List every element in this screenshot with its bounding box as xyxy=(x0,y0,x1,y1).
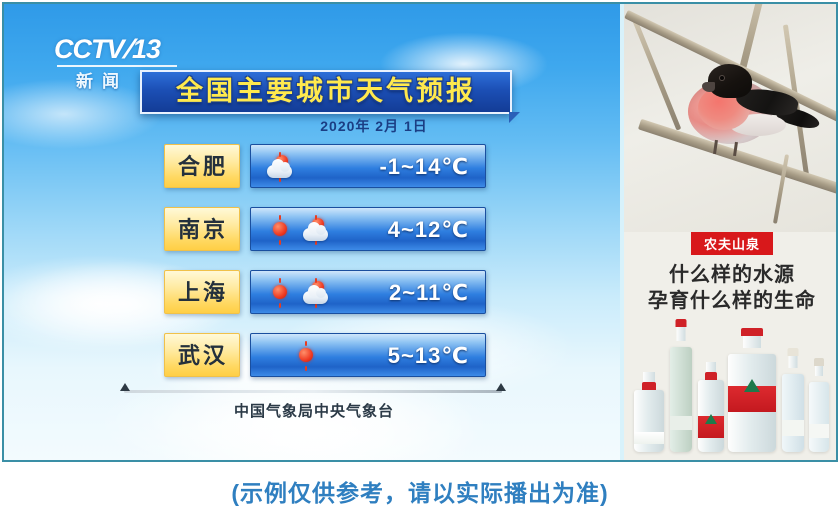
forecast-row: 武汉 5~13℃ xyxy=(164,333,486,377)
sun-icon xyxy=(265,215,295,245)
forecast-date: 2020年 2月 1日 xyxy=(240,116,508,136)
bottle-cap-shape xyxy=(741,328,763,336)
mountain-logo-icon xyxy=(705,414,717,424)
bird-leg-shape xyxy=(733,142,738,156)
product-bottle xyxy=(698,380,724,452)
footer-divider xyxy=(124,390,502,393)
product-bottle-large xyxy=(728,354,776,452)
bottle-label-shape xyxy=(782,420,804,436)
forecast-row: 上海 2~11℃ xyxy=(164,270,486,314)
temperature-box: 2~11℃ xyxy=(250,270,486,314)
temperature-box: 5~13℃ xyxy=(250,333,486,377)
sun-behind-cloud-icon xyxy=(301,278,331,308)
screenshot-root: CCTV/13 新闻 全国主要城市天气预报 2020年 2月 1日 合肥 xyxy=(0,0,840,517)
temperature-range: 4~12℃ xyxy=(388,208,469,252)
ad-slogan: 什么样的水源 孕育什么样的生命 xyxy=(624,262,838,314)
product-bottle xyxy=(634,390,664,452)
footer-left-triangle-icon xyxy=(120,383,130,391)
weather-icon-group xyxy=(265,212,331,248)
sun-behind-cloud-icon xyxy=(265,152,295,182)
city-name: 上海 xyxy=(165,271,241,315)
bird-beak-shape xyxy=(702,82,715,92)
city-label-box: 合肥 xyxy=(164,144,240,188)
city-name: 武汉 xyxy=(165,334,241,378)
bottle-neck-shape xyxy=(677,325,686,341)
forecast-title-banner: 全国主要城市天气预报 xyxy=(140,70,512,114)
bottle-neck-shape xyxy=(789,354,798,368)
city-name: 合肥 xyxy=(165,145,241,189)
product-bottle xyxy=(670,347,692,452)
tv-broadcast-frame: CCTV/13 新闻 全国主要城市天气预报 2020年 2月 1日 合肥 xyxy=(2,2,838,462)
sun-icon xyxy=(265,278,295,308)
bottle-cap-shape xyxy=(642,382,656,390)
city-label-box: 武汉 xyxy=(164,333,240,377)
mountain-logo-icon xyxy=(744,379,760,392)
temperature-range: -1~14℃ xyxy=(379,145,469,189)
product-lineup-photo xyxy=(624,325,838,460)
cloud-shape xyxy=(267,165,292,178)
bullfinch-bird xyxy=(680,56,816,164)
bottle-cap-shape xyxy=(788,348,799,356)
bottle-neck-shape xyxy=(743,334,761,348)
cloud-shape xyxy=(303,228,328,241)
product-bottle xyxy=(782,374,804,452)
brand-name: 农夫山泉 xyxy=(704,234,760,253)
bird-leg-shape xyxy=(713,140,718,154)
temperature-box: -1~14℃ xyxy=(250,144,486,188)
temperature-range: 5~13℃ xyxy=(388,334,469,378)
brand-logo-badge: 农夫山泉 xyxy=(691,232,773,255)
forecast-source: 中国气象局中央气象台 xyxy=(164,400,464,421)
sun-behind-cloud-icon xyxy=(301,215,331,245)
weather-icon-group xyxy=(291,338,321,374)
bottle-label-shape xyxy=(809,424,829,438)
forecast-row: 南京 4~12℃ xyxy=(164,207,486,251)
disclaimer-caption: (示例仅供参考，请以实际播出为准) xyxy=(0,474,840,508)
bottle-cap-shape xyxy=(814,358,824,366)
sun-icon xyxy=(291,341,321,371)
cctv-wordmark: CCTV/13 xyxy=(54,36,194,63)
bottle-label-shape xyxy=(670,416,692,430)
city-label-box: 上海 xyxy=(164,270,240,314)
cctv-letters: CCTV xyxy=(54,34,124,64)
bird-head-shape xyxy=(708,64,752,98)
bird-eye-shape xyxy=(720,76,724,80)
temperature-range: 2~11℃ xyxy=(389,271,469,315)
ad-slogan-line-2: 孕育什么样的生命 xyxy=(624,288,838,314)
footer-right-triangle-icon xyxy=(496,383,506,391)
ad-slogan-line-1: 什么样的水源 xyxy=(624,262,838,288)
sun-rays-shape xyxy=(279,215,281,245)
city-name: 南京 xyxy=(165,208,241,252)
weather-icon-group xyxy=(265,149,295,185)
bottle-cap-shape xyxy=(676,319,687,327)
cctv-subtitle: 新闻 xyxy=(76,67,128,92)
temperature-box: 4~12℃ xyxy=(250,207,486,251)
bottle-cap-shape xyxy=(705,372,717,380)
advertisement-panel[interactable]: 农夫山泉 什么样的水源 孕育什么样的生命 xyxy=(624,4,838,460)
forecast-row: 合肥 -1~14℃ xyxy=(164,144,486,188)
sun-rays-shape xyxy=(305,341,307,371)
cloud-shape xyxy=(303,291,328,304)
cctv-channel-number: 13 xyxy=(132,34,160,64)
bottle-label-shape xyxy=(634,432,664,444)
sun-rays-shape xyxy=(279,278,281,308)
product-bottle xyxy=(809,382,829,452)
page-title: 全国主要城市天气预报 xyxy=(142,72,510,112)
city-label-box: 南京 xyxy=(164,207,240,251)
bullfinch-on-branch-photo xyxy=(624,4,838,232)
weather-icon-group xyxy=(265,275,331,311)
